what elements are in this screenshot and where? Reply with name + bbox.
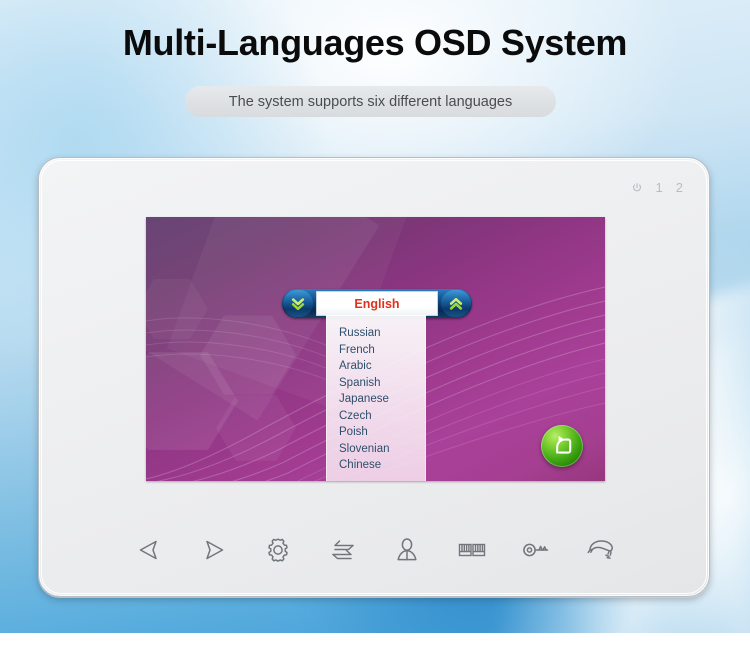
double-chevron-up-icon	[448, 296, 464, 312]
language-selector: English Russian French Arabic Spanish Ja…	[282, 289, 472, 318]
subtitle-pill: The system supports six different langua…	[185, 86, 556, 117]
left-triangle-arrow-icon	[134, 537, 164, 563]
right-triangle-arrow-icon	[199, 537, 229, 563]
indicator-2[interactable]: 2	[676, 180, 683, 195]
status-indicator-cluster: 1 2	[631, 180, 683, 195]
phone-handset-icon	[585, 536, 617, 564]
selected-language-field[interactable]: English	[316, 291, 438, 316]
osd-screen: English Russian French Arabic Spanish Ja…	[146, 217, 605, 481]
list-item[interactable]: French	[327, 342, 425, 359]
intercom-monitor-device: 1 2	[38, 157, 710, 597]
subtitle-text: The system supports six different langua…	[229, 94, 512, 110]
double-chevron-down-icon	[290, 296, 306, 312]
language-list[interactable]: Russian French Arabic Spanish Japanese C…	[326, 315, 426, 481]
list-item[interactable]: Russian	[327, 325, 425, 342]
page-root: Multi-Languages OSD System The system su…	[0, 0, 750, 660]
next-button[interactable]	[192, 528, 236, 572]
list-item[interactable]: Chinese	[327, 457, 425, 474]
scroll-down-button[interactable]	[283, 290, 313, 317]
list-item[interactable]: Arabic	[327, 358, 425, 375]
touch-button-toolbar	[127, 522, 623, 578]
power-icon[interactable]	[631, 182, 643, 194]
return-button[interactable]	[541, 425, 583, 467]
key-icon	[520, 538, 552, 562]
list-item[interactable]: Spanish	[327, 375, 425, 392]
contacts-button[interactable]	[385, 528, 429, 572]
person-icon	[393, 535, 421, 565]
gate-button[interactable]	[450, 528, 494, 572]
list-item[interactable]: Czech	[327, 408, 425, 425]
transfer-button[interactable]	[321, 528, 365, 572]
page-title: Multi-Languages OSD System	[0, 22, 750, 64]
gear-icon	[263, 535, 293, 565]
previous-button[interactable]	[127, 528, 171, 572]
intercom-gate-icon	[456, 538, 488, 562]
unlock-button[interactable]	[514, 528, 558, 572]
return-arrow-icon	[549, 433, 575, 459]
indicator-1[interactable]: 1	[656, 180, 663, 195]
selected-language-text: English	[354, 297, 399, 311]
list-item[interactable]: Slovenian	[327, 441, 425, 458]
call-button[interactable]	[579, 528, 623, 572]
list-item[interactable]: Japanese	[327, 391, 425, 408]
two-way-arrows-icon	[327, 537, 359, 563]
list-item[interactable]: Poish	[327, 424, 425, 441]
scroll-up-button[interactable]	[441, 290, 471, 317]
language-selector-bar: English	[282, 289, 472, 318]
settings-button[interactable]	[256, 528, 300, 572]
